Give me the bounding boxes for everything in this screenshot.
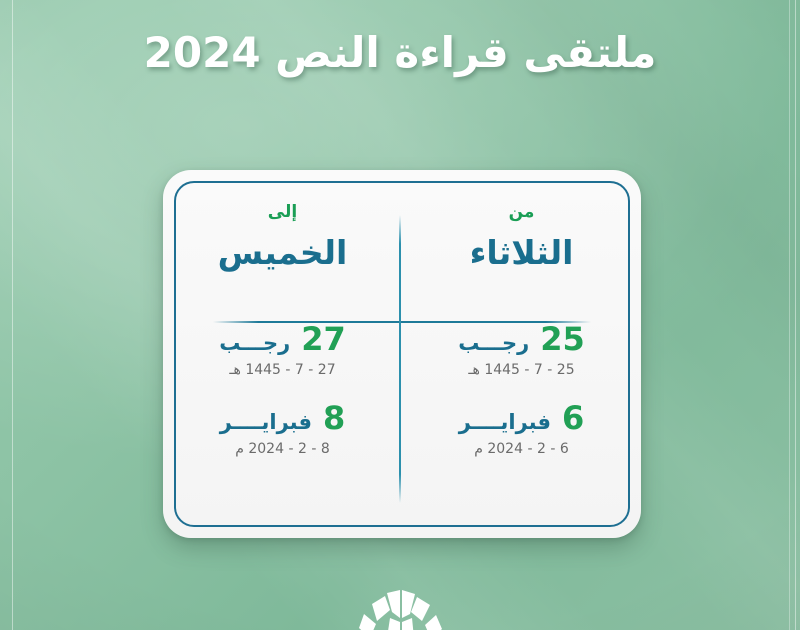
to-day-name: الخميس <box>218 235 348 271</box>
from-hijri-month: رجـــب <box>458 333 529 354</box>
page-title: ملتقى قراءة النص 2024 <box>0 28 800 77</box>
to-column: إلى الخميس 27 رجـــب 27 - 7 - 1445 هـ 8 … <box>163 170 402 538</box>
from-label: من <box>509 204 535 221</box>
horizontal-divider <box>213 321 591 323</box>
to-hijri-main: 27 رجـــب <box>187 323 378 355</box>
from-gregorian-date: 6 فبرايــــر 6 - 2 - 2024 م <box>426 402 617 457</box>
from-hijri-day: 25 <box>540 323 585 355</box>
to-gregorian-month: فبرايــــر <box>220 412 312 433</box>
to-label: إلى <box>268 204 297 221</box>
from-column: من الثلاثاء 25 رجـــب 25 - 7 - 1445 هـ 6… <box>402 170 641 538</box>
from-hijri-date: 25 رجـــب 25 - 7 - 1445 هـ <box>426 323 617 378</box>
from-hijri-main: 25 رجـــب <box>426 323 617 355</box>
left-edge-rule <box>12 0 13 630</box>
to-hijri-day: 27 <box>301 323 346 355</box>
to-hijri-date: 27 رجـــب 27 - 7 - 1445 هـ <box>187 323 378 378</box>
from-gregorian-month: فبرايــــر <box>459 412 551 433</box>
from-hijri-full: 25 - 7 - 1445 هـ <box>426 362 617 378</box>
poster-canvas: ملتقى قراءة النص 2024 من الثلاثاء 25 رجـ… <box>0 0 800 630</box>
right-edge-rule-inner <box>795 0 796 630</box>
to-hijri-full: 27 - 7 - 1445 هـ <box>187 362 378 378</box>
dates-grid: من الثلاثاء 25 رجـــب 25 - 7 - 1445 هـ 6… <box>163 170 641 538</box>
to-hijri-month: رجـــب <box>219 333 290 354</box>
from-day-name: الثلاثاء <box>470 235 574 271</box>
to-gregorian-date: 8 فبرايــــر 8 - 2 - 2024 م <box>187 402 378 457</box>
from-gregorian-main: 6 فبرايــــر <box>426 402 617 434</box>
open-book-pages-logo <box>354 588 446 630</box>
right-edge-rule-outer <box>789 0 790 630</box>
from-gregorian-full: 6 - 2 - 2024 م <box>426 441 617 457</box>
event-dates-card: من الثلاثاء 25 رجـــب 25 - 7 - 1445 هـ 6… <box>163 170 641 538</box>
to-gregorian-full: 8 - 2 - 2024 م <box>187 441 378 457</box>
from-gregorian-day: 6 <box>562 402 584 434</box>
to-gregorian-main: 8 فبرايــــر <box>187 402 378 434</box>
to-gregorian-day: 8 <box>323 402 345 434</box>
vertical-divider <box>399 215 401 503</box>
